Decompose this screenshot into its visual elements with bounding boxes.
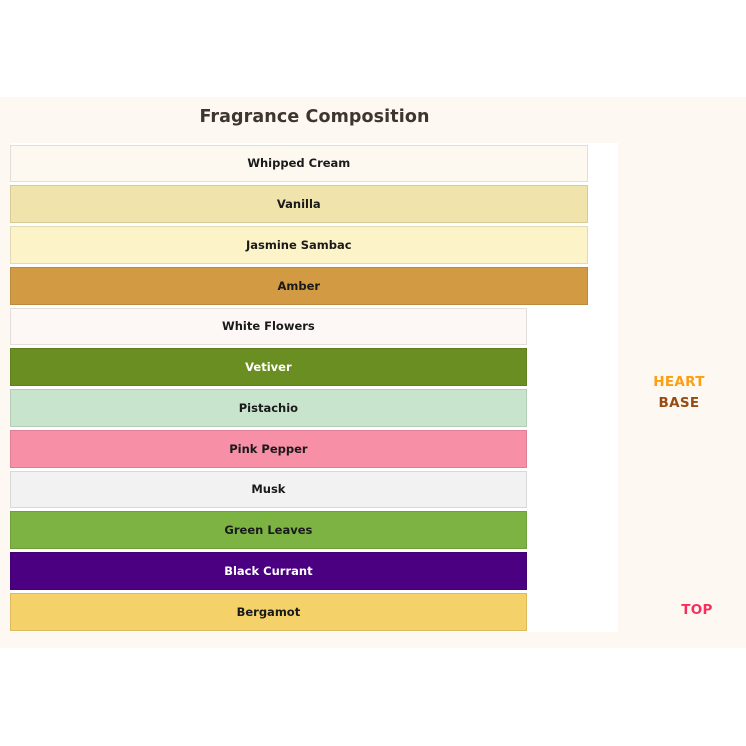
bar-whipped-cream[interactable]	[10, 145, 588, 183]
chart-title: Fragrance Composition	[0, 107, 629, 127]
bar-vetiver[interactable]	[10, 348, 527, 386]
bar-row[interactable]: Pink Pepper	[10, 428, 618, 469]
bar-pistachio[interactable]	[10, 389, 527, 427]
bar-row[interactable]: Vetiver	[10, 347, 618, 388]
bar-row[interactable]: Green Leaves	[10, 510, 618, 551]
bars-layer: Whipped CreamVanillaJasmine SambacAmberW…	[10, 143, 618, 632]
bar-row[interactable]: Pistachio	[10, 388, 618, 429]
annotation-heart: HEART	[653, 374, 704, 390]
bar-green-leaves[interactable]	[10, 511, 527, 549]
bar-musk[interactable]	[10, 471, 527, 509]
bar-row[interactable]: Jasmine Sambac	[10, 225, 618, 266]
chart-figure: Fragrance Composition Whipped CreamVanil…	[0, 97, 746, 648]
bar-row[interactable]: White Flowers	[10, 306, 618, 347]
bar-vanilla[interactable]	[10, 185, 588, 223]
bar-row[interactable]: Amber	[10, 265, 618, 306]
bar-row[interactable]: Vanilla	[10, 184, 618, 225]
bar-amber[interactable]	[10, 267, 588, 305]
bar-pink-pepper[interactable]	[10, 430, 527, 468]
bar-row[interactable]: Black Currant	[10, 551, 618, 592]
annotation-base: BASE	[659, 395, 700, 411]
bar-row[interactable]: Whipped Cream	[10, 143, 618, 184]
bar-black-currant[interactable]	[10, 552, 527, 590]
annotation-top: TOP	[681, 602, 712, 618]
bar-white-flowers[interactable]	[10, 308, 527, 346]
bar-row[interactable]: Bergamot	[10, 591, 618, 632]
bar-bergamot[interactable]	[10, 593, 527, 631]
bar-jasmine-sambac[interactable]	[10, 226, 588, 264]
bar-row[interactable]: Musk	[10, 469, 618, 510]
